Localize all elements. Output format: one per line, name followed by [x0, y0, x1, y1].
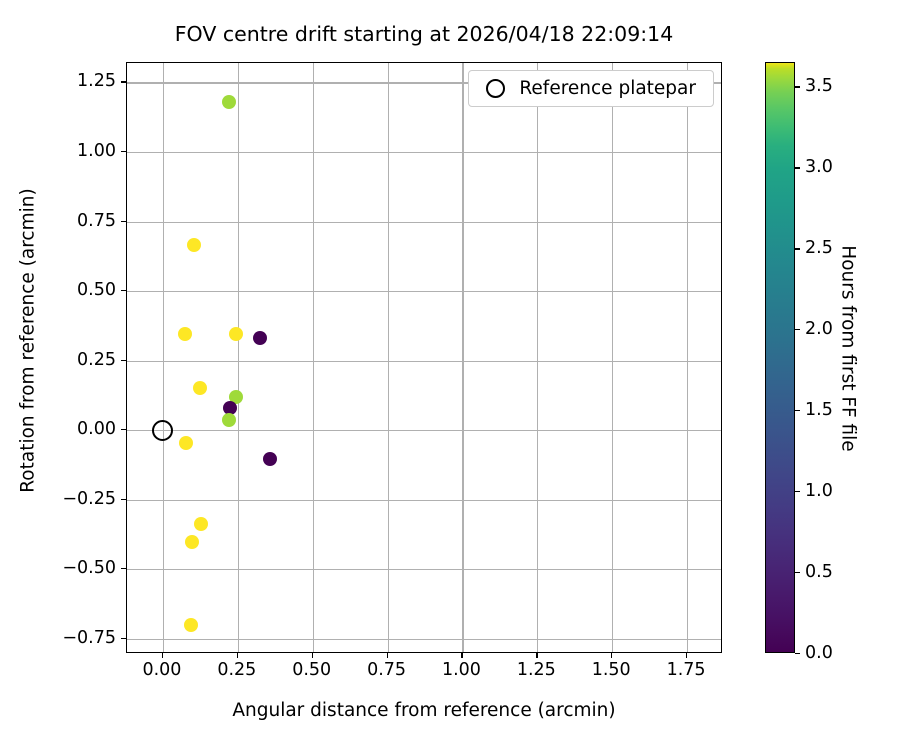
y-tick-mark: [121, 151, 126, 152]
y-tick-mark: [121, 638, 126, 639]
grid-lines: [127, 63, 721, 652]
y-tick-label: 0.25: [77, 350, 116, 370]
y-axis-label: Rotation from reference (arcmin): [18, 81, 39, 601]
x-tick-mark: [162, 653, 163, 658]
x-tick-mark: [686, 653, 687, 658]
colorbar-tick-label: 3.5: [805, 76, 833, 96]
x-axis-label: Angular distance from reference (arcmin): [126, 700, 722, 721]
y-tick-mark: [121, 290, 126, 291]
y-tick-mark: [121, 429, 126, 430]
x-tick-label: 0.25: [217, 660, 256, 680]
y-tick-label: −0.50: [62, 558, 116, 578]
x-tick-label: 0.75: [367, 660, 406, 680]
x-tick-label: 1.75: [667, 660, 706, 680]
y-tick-label: −0.75: [62, 628, 116, 648]
scatter-point: [253, 331, 267, 345]
colorbar-tick-mark: [795, 329, 800, 330]
y-tick-label: 0.75: [77, 211, 116, 231]
colorbar-tick-label: 2.0: [805, 319, 833, 339]
grid-line-horizontal: [127, 569, 721, 570]
colorbar-tick-mark: [795, 167, 800, 168]
y-tick-mark: [121, 221, 126, 222]
colorbar-tick-mark: [795, 491, 800, 492]
grid-line-horizontal: [127, 222, 721, 223]
y-tick-mark: [121, 568, 126, 569]
colorbar-tick-label: 2.5: [805, 238, 833, 258]
grid-line-horizontal: [127, 430, 721, 431]
colorbar: 0.00.51.01.52.02.53.03.5 Hours from firs…: [765, 62, 895, 653]
y-tick-mark: [121, 499, 126, 500]
figure: FOV centre drift starting at 2026/04/18 …: [0, 0, 900, 750]
x-tick-label: 1.50: [592, 660, 631, 680]
grid-line-horizontal: [127, 152, 721, 153]
legend[interactable]: Reference platepar: [468, 70, 714, 107]
colorbar-tick-label: 0.0: [805, 643, 833, 663]
grid-line-horizontal: [127, 361, 721, 362]
x-tick-mark: [611, 653, 612, 658]
colorbar-gradient: [765, 62, 795, 653]
plot-axes: Reference platepar: [126, 62, 722, 653]
grid-line-horizontal: [127, 500, 721, 501]
colorbar-tick-mark: [795, 572, 800, 573]
x-tick-mark: [237, 653, 238, 658]
x-tick-label: 1.00: [442, 660, 481, 680]
x-tick-label: 1.25: [517, 660, 556, 680]
grid-line-horizontal: [127, 291, 721, 292]
x-tick-mark: [312, 653, 313, 658]
y-tick-mark: [121, 360, 126, 361]
x-tick-mark: [536, 653, 537, 658]
colorbar-tick-mark: [795, 653, 800, 654]
colorbar-tick-mark: [795, 86, 800, 87]
grid-line-horizontal: [127, 639, 721, 640]
colorbar-tick-label: 1.0: [805, 481, 833, 501]
x-tick-mark: [461, 653, 462, 658]
legend-entry-label: Reference platepar: [519, 78, 702, 99]
chart-title: FOV centre drift starting at 2026/04/18 …: [126, 22, 722, 46]
y-tick-label: 0.00: [77, 419, 116, 439]
x-tick-label: 0.50: [292, 660, 331, 680]
y-tick-label: 1.00: [77, 141, 116, 161]
x-tick-mark: [387, 653, 388, 658]
reference-platepar-marker-icon: [486, 79, 505, 98]
y-tick-label: 0.50: [77, 280, 116, 300]
y-tick-label: −0.25: [62, 489, 116, 509]
reference-platepar-point: [152, 420, 173, 441]
scatter-point: [222, 413, 236, 427]
scatter-point: [222, 95, 236, 109]
y-tick-label: 1.25: [77, 71, 116, 91]
colorbar-tick-label: 1.5: [805, 400, 833, 420]
colorbar-tick-label: 0.5: [805, 562, 833, 582]
colorbar-tick-mark: [795, 248, 800, 249]
colorbar-tick-label: 3.0: [805, 157, 833, 177]
colorbar-label: Hours from first FF file: [838, 129, 859, 569]
y-tick-mark: [121, 81, 126, 82]
colorbar-tick-mark: [795, 410, 800, 411]
x-tick-label: 0.00: [142, 660, 181, 680]
